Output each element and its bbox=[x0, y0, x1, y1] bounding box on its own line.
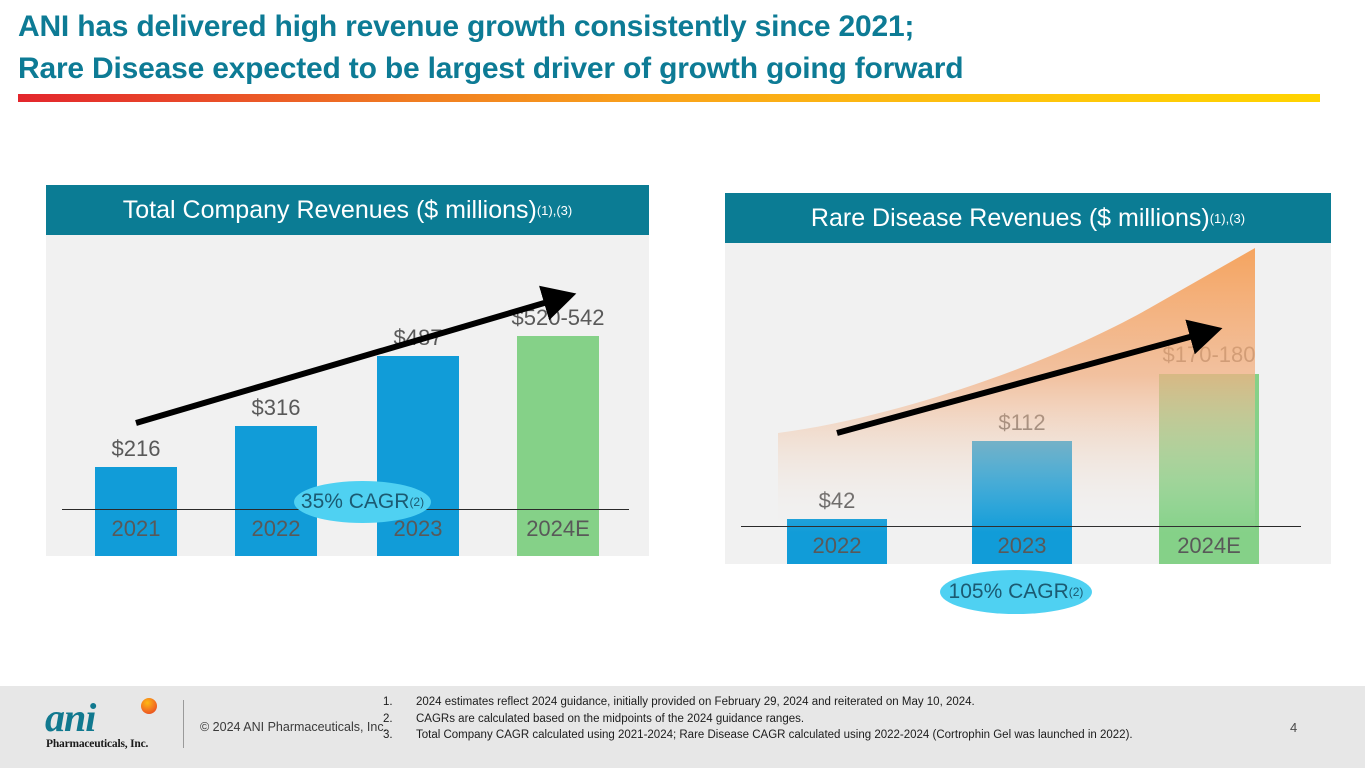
bar-value-2024e: $520-542 bbox=[476, 305, 640, 331]
chart-title-rare-disease: Rare Disease Revenues ($ millions)(1),(3… bbox=[725, 193, 1331, 243]
page-title: ANI has delivered high revenue growth co… bbox=[18, 6, 1338, 90]
page-number: 4 bbox=[1290, 720, 1297, 735]
chart-title-superscript: (1),(3) bbox=[1210, 211, 1245, 226]
x-tick-2022: 2022 bbox=[215, 516, 337, 542]
footnotes-list: 1. 2024 estimates reflect 2024 guidance,… bbox=[383, 694, 1263, 744]
cagr-badge-label: 35% CAGR bbox=[301, 490, 410, 514]
x-tick-2024e: 2024E bbox=[1139, 533, 1279, 559]
bar-value-2022: $316 bbox=[215, 395, 337, 421]
footer-divider bbox=[183, 700, 184, 748]
bar-group-2021: $216 bbox=[95, 282, 177, 556]
bar-value-2024e: $170-180 bbox=[1123, 342, 1295, 368]
bar-value-2023: $112 bbox=[952, 410, 1092, 436]
plot-area-rare-disease: 105% CAGR(2) $42 $112 $170-180 2022 2023… bbox=[725, 243, 1331, 564]
footnote-item: 1. 2024 estimates reflect 2024 guidance,… bbox=[383, 694, 1263, 711]
bar-group-2024e: $520-542 bbox=[517, 282, 599, 556]
cagr-badge-superscript: (2) bbox=[1069, 585, 1084, 599]
footnote-number: 1. bbox=[383, 694, 416, 711]
x-tick-2021: 2021 bbox=[75, 516, 197, 542]
bar-value-2022: $42 bbox=[767, 488, 907, 514]
bar-group-2024e: $170-180 bbox=[1159, 281, 1259, 564]
footnote-text: CAGRs are calculated based on the midpoi… bbox=[416, 711, 1263, 728]
chart-title-text: Rare Disease Revenues ($ millions) bbox=[811, 204, 1210, 233]
cagr-badge-total-company: 35% CAGR(2) bbox=[294, 481, 431, 523]
x-tick-2023: 2023 bbox=[952, 533, 1092, 559]
bar-value-2023: $487 bbox=[357, 325, 479, 351]
footnote-item: 2. CAGRs are calculated based on the mid… bbox=[383, 711, 1263, 728]
copyright-text: © 2024 ANI Pharmaceuticals, Inc. bbox=[200, 720, 387, 734]
plot-area-total-company: 35% CAGR(2) $216 $316 $487 $520-542 2021… bbox=[46, 235, 649, 556]
cagr-badge-rare-disease: 105% CAGR(2) bbox=[940, 570, 1092, 614]
footnote-number: 2. bbox=[383, 711, 416, 728]
ani-logo-dot-icon bbox=[141, 698, 157, 714]
accent-rule-divider bbox=[18, 94, 1320, 102]
ani-logo: ani Pharmaceuticals, Inc. bbox=[45, 696, 170, 754]
cagr-badge-label: 105% CAGR bbox=[949, 580, 1069, 604]
footnote-text: 2024 estimates reflect 2024 guidance, in… bbox=[416, 694, 1263, 711]
x-tick-2022: 2022 bbox=[767, 533, 907, 559]
cagr-badge-superscript: (2) bbox=[409, 495, 424, 509]
footnote-number: 3. bbox=[383, 727, 416, 744]
ani-logo-wordmark: ani bbox=[45, 698, 95, 738]
bar-value-2021: $216 bbox=[75, 436, 197, 462]
footnote-item: 3. Total Company CAGR calculated using 2… bbox=[383, 727, 1263, 744]
ani-logo-subtitle: Pharmaceuticals, Inc. bbox=[46, 738, 148, 750]
page-title-line-1: ANI has delivered high revenue growth co… bbox=[18, 6, 1338, 48]
chart-title-total-company: Total Company Revenues ($ millions)(1),(… bbox=[46, 185, 649, 235]
bar-2021[interactable] bbox=[95, 467, 177, 556]
footnote-text: Total Company CAGR calculated using 2021… bbox=[416, 727, 1263, 744]
chart-panel-rare-disease: Rare Disease Revenues ($ millions)(1),(3… bbox=[725, 193, 1331, 564]
bar-group-2022: $316 bbox=[235, 282, 317, 556]
chart-title-superscript: (1),(3) bbox=[537, 203, 572, 218]
bar-group-2022: $42 bbox=[787, 281, 887, 564]
bar-group-2023: $112 bbox=[972, 281, 1072, 564]
chart-panel-total-company: Total Company Revenues ($ millions)(1),(… bbox=[46, 185, 649, 556]
chart-title-text: Total Company Revenues ($ millions) bbox=[123, 196, 537, 225]
page-title-line-2: Rare Disease expected to be largest driv… bbox=[18, 48, 1338, 90]
x-tick-2024e: 2024E bbox=[497, 516, 619, 542]
x-axis-line-rare-disease bbox=[741, 526, 1301, 527]
